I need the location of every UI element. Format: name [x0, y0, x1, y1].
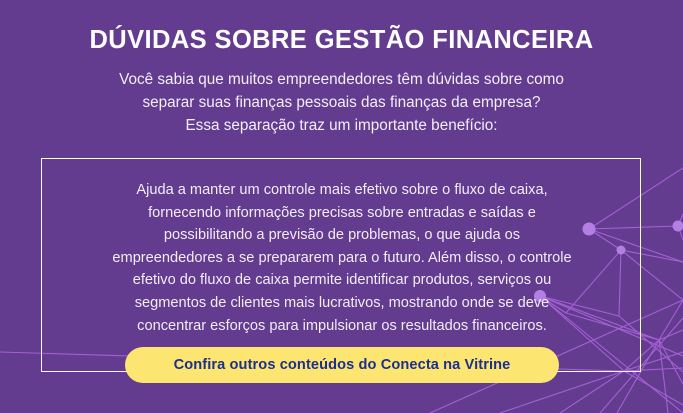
benefit-line: possibilitando a previsão de problemas, …	[42, 224, 642, 247]
benefit-line: Ajuda a manter um controle mais efetivo …	[42, 179, 642, 202]
intro-line: separar suas finanças pessoais das finan…	[46, 91, 637, 114]
network-node	[673, 221, 683, 232]
page-title: DÚVIDAS SOBRE GESTÃO FINANCEIRA	[0, 26, 683, 55]
benefit-line: empreendedores a se prepararem para o fu…	[42, 247, 642, 270]
promo-card: DÚVIDAS SOBRE GESTÃO FINANCEIRA Você sab…	[0, 0, 683, 413]
intro-line: Você sabia que muitos empreendedores têm…	[46, 68, 637, 91]
intro-line: Essa separação traz um importante benefí…	[46, 114, 637, 137]
benefit-line: efetivo do fluxo de caixa permite identi…	[42, 269, 642, 292]
benefit-line: segmentos de clientes mais lucrativos, m…	[42, 292, 642, 315]
cta-button[interactable]: Confira outros conteúdos do Conecta na V…	[125, 347, 559, 383]
benefit-paragraph: Ajuda a manter um controle mais efetivo …	[42, 179, 642, 337]
benefit-box: Ajuda a manter um controle mais efetivo …	[41, 158, 641, 372]
benefit-line: concentrar esforços para impulsionar os …	[42, 315, 642, 338]
benefit-line: fornecendo informações precisas sobre en…	[42, 202, 642, 225]
intro-paragraph: Você sabia que muitos empreendedores têm…	[46, 68, 637, 137]
